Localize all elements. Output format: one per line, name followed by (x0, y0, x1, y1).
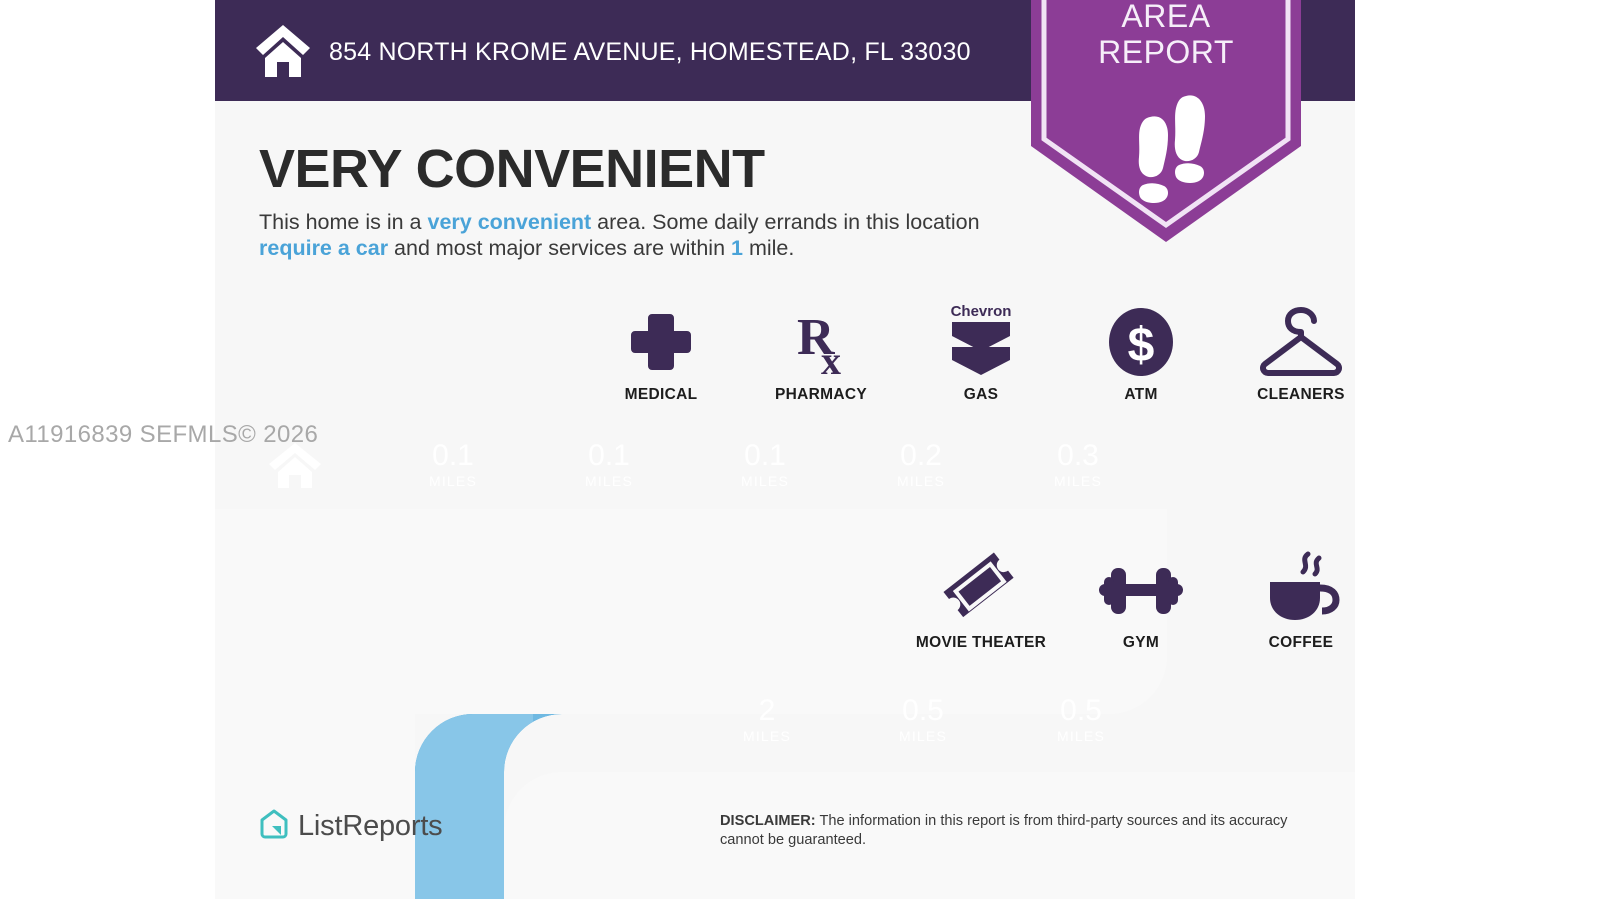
disclaimer: DISCLAIMER: The information in this repo… (720, 812, 1320, 850)
distance-value: 0.1 (588, 441, 630, 471)
amenity-label: MOVIE THEATER (916, 634, 1046, 652)
amenity-movie-theater: MOVIE THEATER (901, 548, 1061, 652)
dumbbell-icon (1095, 548, 1187, 626)
amenity-medical: MEDICAL (581, 300, 741, 404)
distance-unit: MILES (741, 473, 789, 489)
subtitle-part-1: This home is in a (259, 210, 427, 234)
listreports-logo[interactable]: ListReports (259, 808, 442, 845)
distance-atm: 0.2 MILES (843, 420, 999, 509)
movie-ticket-icon (941, 548, 1021, 626)
page-subtitle: This home is in a very convenient area. … (259, 209, 1029, 261)
track-segment-home (215, 420, 375, 509)
amenity-label: GYM (1123, 634, 1159, 652)
amenity-cleaners: CLEANERS (1221, 300, 1355, 404)
subtitle-highlight-2: require a car (259, 236, 388, 260)
distance-value: 2 (759, 696, 776, 726)
amenity-icons-row-2: MOVIE THEATER GYM (901, 548, 1355, 652)
listreports-wordmark: ListReports (298, 810, 442, 843)
subtitle-part-2: area. Some daily errands in this locatio… (591, 210, 979, 234)
subtitle-highlight-3: 1 (731, 236, 743, 260)
distance-gas: 0.1 MILES (687, 420, 843, 509)
coffee-cup-icon (1260, 548, 1342, 626)
distance-unit: MILES (899, 728, 947, 744)
chevron-gas-icon: Chevron (940, 300, 1022, 378)
svg-text:$: $ (1128, 319, 1155, 372)
clothes-hanger-icon (1258, 300, 1344, 378)
distance-unit: MILES (897, 473, 945, 489)
distance-unit: MILES (429, 473, 477, 489)
amenity-icons-row-1: MEDICAL R x PHARMACY Chevron GAS (581, 300, 1355, 404)
distance-unit: MILES (1054, 473, 1102, 489)
report-page: 854 NORTH KROME AVENUE, HOMESTEAD, FL 33… (215, 0, 1355, 899)
amenity-label: MEDICAL (625, 386, 698, 404)
distance-value: 0.3 (1057, 441, 1099, 471)
house-icon (267, 440, 323, 490)
distance-unit: MILES (1057, 728, 1105, 744)
distance-medical: 0.1 MILES (375, 420, 531, 509)
distance-movie-theater: 2 MILES (689, 665, 845, 775)
amenity-label: ATM (1124, 386, 1157, 404)
amenity-label: PHARMACY (775, 386, 867, 404)
amenity-atm: $ ATM (1061, 300, 1221, 404)
disclaimer-label: DISCLAIMER: (720, 813, 816, 829)
medical-cross-icon (625, 300, 697, 378)
distance-coffee: 0.5 MILES (1001, 665, 1161, 775)
amenity-gas: Chevron GAS (901, 300, 1061, 404)
svg-text:Chevron: Chevron (951, 303, 1012, 320)
dollar-circle-icon: $ (1105, 300, 1177, 378)
distance-value: 0.1 (744, 441, 786, 471)
house-icon (253, 20, 313, 80)
distance-value: 0.5 (902, 696, 944, 726)
distance-gym: 0.5 MILES (845, 665, 1001, 775)
subtitle-part-3: and most major services are within (388, 236, 731, 260)
area-report-badge: AREA REPORT (1031, 0, 1301, 242)
rx-prescription-icon: R x (785, 300, 857, 378)
amenity-label: CLEANERS (1257, 386, 1345, 404)
page-title: VERY CONVENIENT (259, 138, 765, 200)
distance-pharmacy: 0.1 MILES (531, 420, 687, 509)
subtitle-part-4: mile. (743, 236, 794, 260)
listreports-house-icon (259, 808, 289, 845)
subtitle-highlight-1: very convenient (427, 210, 591, 234)
distance-unit: MILES (743, 728, 791, 744)
distance-value: 0.1 (432, 441, 474, 471)
amenity-label: GAS (964, 386, 999, 404)
property-address: 854 NORTH KROME AVENUE, HOMESTEAD, FL 33… (329, 38, 971, 67)
distance-value: 0.2 (900, 441, 942, 471)
amenity-gym: GYM (1061, 548, 1221, 652)
distance-unit: MILES (585, 473, 633, 489)
distance-value: 0.5 (1060, 696, 1102, 726)
amenity-label: COFFEE (1269, 634, 1334, 652)
amenity-pharmacy: R x PHARMACY (741, 300, 901, 404)
amenity-coffee: COFFEE (1221, 548, 1355, 652)
distance-cleaners: 0.3 MILES (999, 420, 1157, 509)
svg-text:x: x (821, 338, 841, 378)
